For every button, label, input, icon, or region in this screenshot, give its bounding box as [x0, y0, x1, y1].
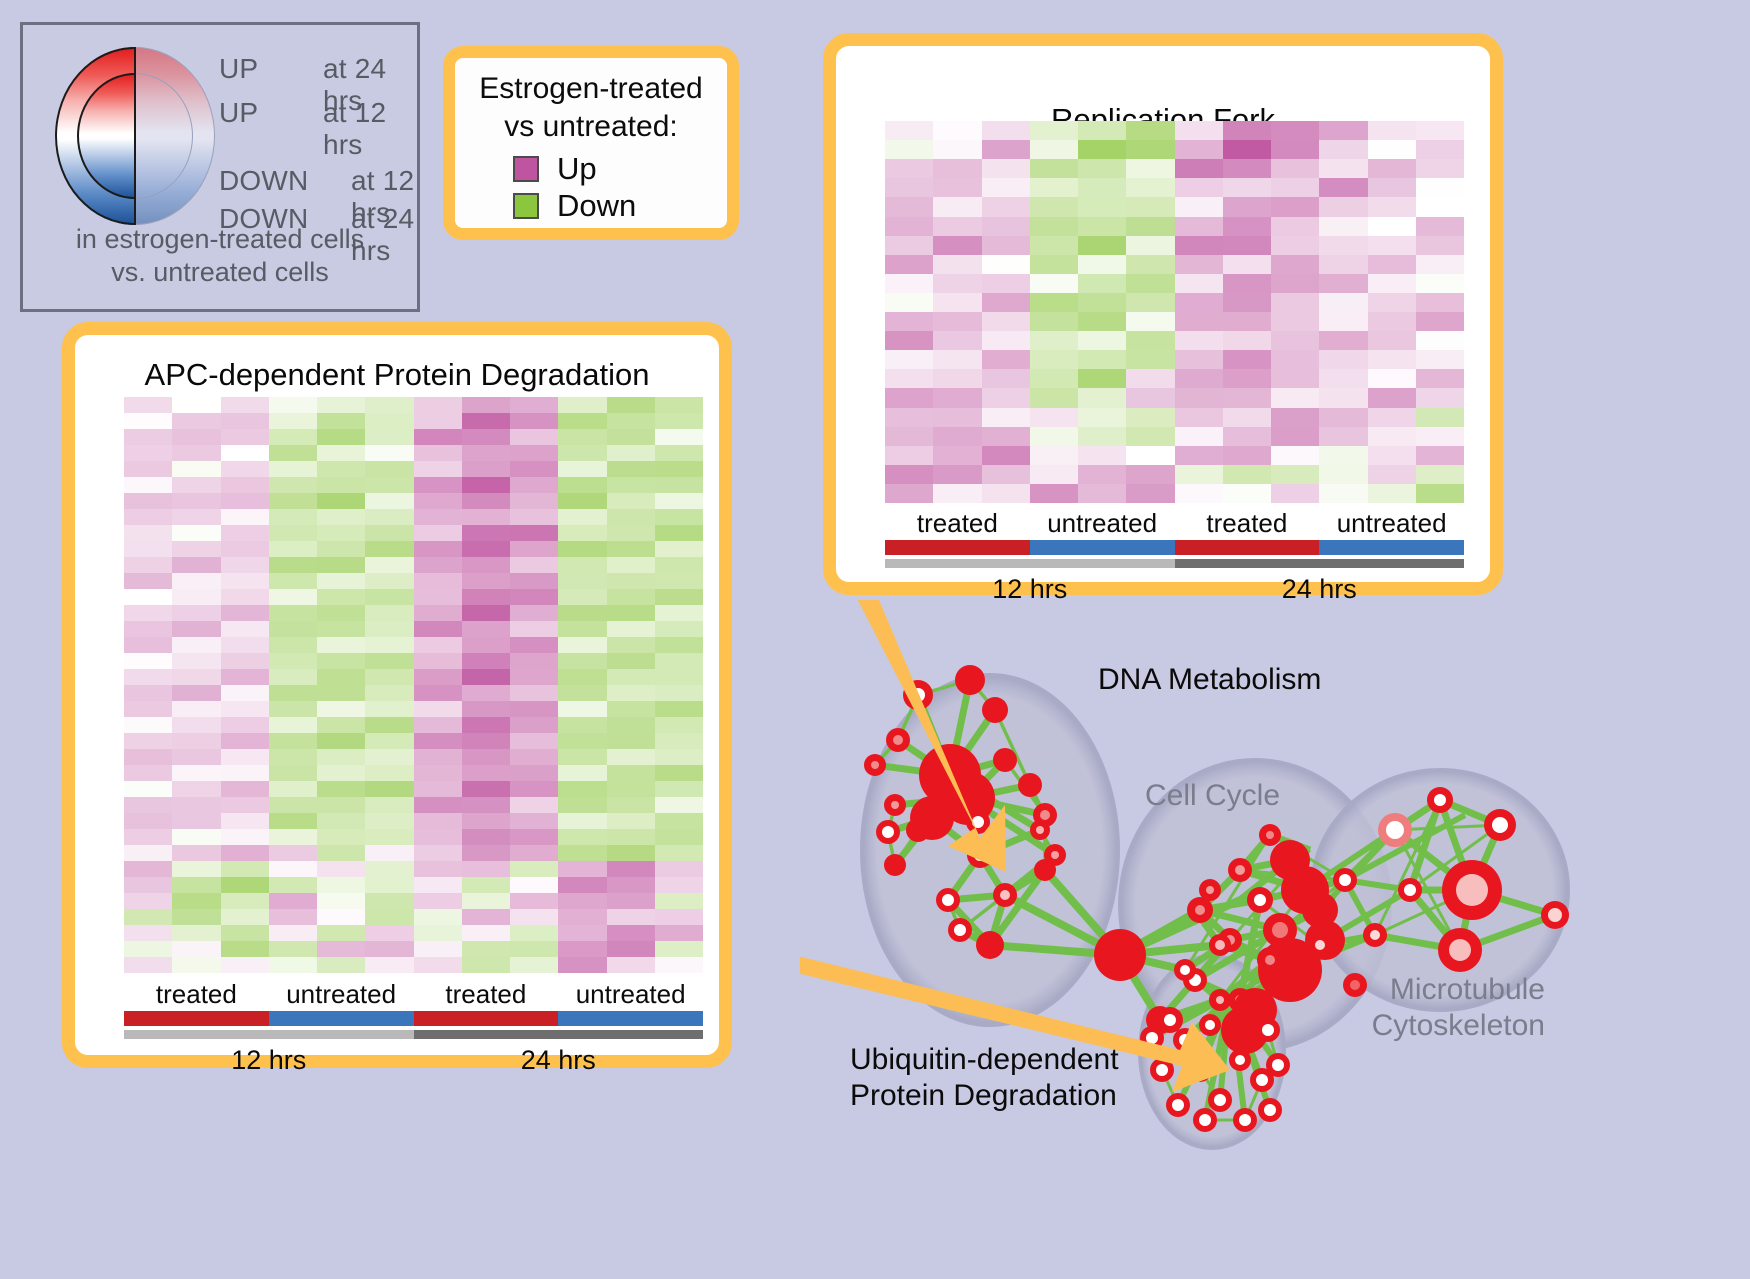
heatmap-cell — [365, 957, 413, 973]
condition-label-3: untreated — [1319, 508, 1464, 539]
heatmap-cell — [317, 397, 365, 413]
heatmap-cell — [607, 669, 655, 685]
heatmap-cell — [317, 925, 365, 941]
heatmap-cell — [124, 605, 172, 621]
heatmap-cell — [510, 701, 558, 717]
heatmap-apc-degradation — [124, 397, 703, 973]
heatmap-cell — [1175, 350, 1223, 369]
heatmap-cell — [607, 397, 655, 413]
heatmap-cell — [317, 477, 365, 493]
heatmap-cell — [365, 781, 413, 797]
heatmap-cell — [1030, 236, 1078, 255]
heatmap-cell — [885, 178, 933, 197]
heatmap-cell — [317, 909, 365, 925]
heatmap-cell — [365, 605, 413, 621]
heatmap-cell — [172, 637, 220, 653]
heatmap-cell — [414, 813, 462, 829]
heatmap-cell — [414, 797, 462, 813]
heatmap-cell — [1175, 274, 1223, 293]
heatmap-cell — [124, 877, 172, 893]
heatmap-cell — [1078, 408, 1126, 427]
heatmap-cell — [1271, 255, 1319, 274]
heatmap-cell — [655, 573, 703, 589]
heatmap-cell — [414, 925, 462, 941]
heatmap-cell — [414, 829, 462, 845]
heatmap-cell — [558, 925, 606, 941]
heatmap-cell — [885, 446, 933, 465]
heatmap-cell — [172, 829, 220, 845]
heatmap-cell — [933, 312, 981, 331]
heatmap-cell — [607, 877, 655, 893]
heatmap-cell — [1416, 197, 1464, 216]
heatmap-cell — [607, 957, 655, 973]
heatmap-cell — [1271, 274, 1319, 293]
heatmap-cell — [1030, 408, 1078, 427]
heatmap-cell — [655, 797, 703, 813]
heatmap-cell — [462, 813, 510, 829]
heatmap-cell — [462, 589, 510, 605]
heatmap-cell — [172, 557, 220, 573]
heatmap-cell — [269, 845, 317, 861]
heatmap-cell — [365, 765, 413, 781]
swatch-up-icon — [513, 156, 539, 182]
condition-label-1: untreated — [269, 979, 414, 1010]
network-label-microtubule-line2: Cytoskeleton — [1360, 1008, 1545, 1044]
heatmap-cell — [607, 685, 655, 701]
heatmap-cell — [414, 861, 462, 877]
heatmap-cell — [462, 909, 510, 925]
heatmap-cell — [1175, 465, 1223, 484]
expression-legend-title-line2: vs untreated: — [455, 108, 727, 146]
heatmap-cell — [1223, 159, 1271, 178]
heatmap-cell — [655, 765, 703, 781]
heatmap-cell — [1126, 236, 1174, 255]
heatmap-cell — [221, 509, 269, 525]
heatmap-cell — [365, 813, 413, 829]
heatmap-cell — [1126, 159, 1174, 178]
heatmap-cell — [1271, 484, 1319, 503]
heatmap-cell — [1368, 350, 1416, 369]
heatmap-cell — [269, 413, 317, 429]
heatmap-cell — [1368, 388, 1416, 407]
heatmap-cell — [462, 477, 510, 493]
heatmap-cell — [462, 877, 510, 893]
heatmap-cell — [124, 717, 172, 733]
heatmap-cell — [885, 140, 933, 159]
heatmap-cell — [1078, 217, 1126, 236]
heatmap-cell — [221, 461, 269, 477]
heatmap-cell — [982, 388, 1030, 407]
heatmap-cell — [1319, 369, 1367, 388]
heatmap-cell — [1319, 121, 1367, 140]
heatmap-cell — [462, 733, 510, 749]
heatmap-cell — [317, 509, 365, 525]
heatmap-cell — [655, 909, 703, 925]
heatmap-cell — [558, 429, 606, 445]
heatmap-cell — [982, 140, 1030, 159]
network-label-microtubule-line1: Microtubule — [1360, 972, 1545, 1008]
heatmap-cell — [1223, 312, 1271, 331]
heatmap-cell — [124, 653, 172, 669]
heatmap-cell — [365, 941, 413, 957]
heatmap-cell — [1319, 408, 1367, 427]
heatmap-cell — [510, 877, 558, 893]
heatmap-cell — [1271, 236, 1319, 255]
heatmap-cell — [607, 893, 655, 909]
heatmap-cell — [1078, 446, 1126, 465]
heatmap-cell — [982, 255, 1030, 274]
heatmap-cell — [982, 465, 1030, 484]
key-note-line2: vs. untreated cells — [23, 256, 417, 289]
heatmap-cell — [221, 541, 269, 557]
heatmap-cell — [172, 541, 220, 557]
heatmap-cell — [933, 484, 981, 503]
heatmap-cell — [655, 525, 703, 541]
heatmap-cell — [607, 621, 655, 637]
heatmap-cell — [885, 408, 933, 427]
heatmap-cell — [317, 893, 365, 909]
heatmap-cell — [365, 701, 413, 717]
heatmap-cell — [607, 813, 655, 829]
heatmap-cell — [172, 605, 220, 621]
heatmap-cell — [1078, 350, 1126, 369]
heatmap-cell — [1126, 140, 1174, 159]
heatmap-cell — [172, 621, 220, 637]
heatmap-cell — [558, 509, 606, 525]
heatmap-cell — [1223, 388, 1271, 407]
heatmap-cell — [1078, 159, 1126, 178]
heatmap-cell — [172, 685, 220, 701]
heatmap-cell — [607, 589, 655, 605]
heatmap-cell — [1416, 312, 1464, 331]
heatmap-cell — [510, 429, 558, 445]
heatmap-cell — [124, 941, 172, 957]
heatmap-cell — [269, 429, 317, 445]
heatmap-cell — [269, 637, 317, 653]
heatmap-cell — [221, 797, 269, 813]
condition-bar-segment-untreated-12 — [1030, 540, 1175, 555]
heatmap-cell — [269, 941, 317, 957]
heatmap-cell — [1175, 484, 1223, 503]
heatmap-cell — [269, 733, 317, 749]
heatmap-cell — [414, 493, 462, 509]
heatmap-cell — [1078, 255, 1126, 274]
heatmap-cell — [655, 589, 703, 605]
heatmap-cell — [269, 525, 317, 541]
heatmap-cell — [414, 685, 462, 701]
heatmap-cell — [365, 797, 413, 813]
heatmap-cell — [558, 749, 606, 765]
heatmap-cell — [885, 427, 933, 446]
heatmap-cell — [269, 557, 317, 573]
heatmap-cell — [1175, 312, 1223, 331]
heatmap-cell — [1030, 293, 1078, 312]
heatmap-cell — [172, 509, 220, 525]
heatmap-cell — [1175, 217, 1223, 236]
heatmap-cell — [982, 446, 1030, 465]
heatmap-cell — [655, 637, 703, 653]
heatmap-cell — [655, 733, 703, 749]
heatmap-cell — [885, 159, 933, 178]
heatmap-cell — [1319, 274, 1367, 293]
heatmap-cell — [317, 957, 365, 973]
heatmap-cell — [558, 717, 606, 733]
heatmap-cell — [655, 429, 703, 445]
heatmap-cell — [124, 461, 172, 477]
heatmap-cell — [172, 957, 220, 973]
heatmap-cell — [462, 541, 510, 557]
network-diagram: DNA Metabolism Cell Cycle Microtubule Cy… — [800, 600, 1750, 1279]
heatmap-cell — [510, 589, 558, 605]
heatmap-cell — [221, 925, 269, 941]
heatmap-cell — [607, 925, 655, 941]
heatmap-cell — [510, 829, 558, 845]
heatmap-cell — [607, 637, 655, 653]
heatmap-cell — [607, 413, 655, 429]
heatmap-cell — [1175, 388, 1223, 407]
heatmap-cell — [1368, 484, 1416, 503]
heatmap-cell — [558, 669, 606, 685]
heatmap-cell — [1078, 484, 1126, 503]
heatmap-cell — [172, 493, 220, 509]
heatmap-cell — [607, 733, 655, 749]
heatmap-cell — [885, 388, 933, 407]
heatmap-cell — [124, 509, 172, 525]
heatmap-cell — [1416, 178, 1464, 197]
heatmap-cell — [317, 861, 365, 877]
heatmap-cell — [172, 893, 220, 909]
heatmap-cell — [655, 941, 703, 957]
heatmap-cell — [172, 669, 220, 685]
heatmap-cell — [655, 461, 703, 477]
heatmap-cell — [1175, 369, 1223, 388]
heatmap-cell — [982, 484, 1030, 503]
heatmap-cell — [124, 685, 172, 701]
heatmap-cell — [414, 765, 462, 781]
heatmap-cell — [414, 877, 462, 893]
condition-labels-replication-fork: treated untreated treated untreated — [885, 508, 1464, 539]
heatmap-cell — [655, 877, 703, 893]
heatmap-cell — [365, 653, 413, 669]
heatmap-cell — [414, 621, 462, 637]
time-bar-segment-12hrs — [885, 559, 1175, 568]
heatmap-cell — [269, 509, 317, 525]
heatmap-cell — [124, 445, 172, 461]
heatmap-cell — [1319, 178, 1367, 197]
heatmap-cell — [655, 701, 703, 717]
heatmap-cell — [317, 461, 365, 477]
heatmap-cell — [1319, 388, 1367, 407]
heatmap-cell — [1368, 274, 1416, 293]
heatmap-cell — [655, 749, 703, 765]
heatmap-cell — [933, 408, 981, 427]
heatmap-cell — [462, 669, 510, 685]
heatmap-cell — [462, 413, 510, 429]
heatmap-cell — [414, 461, 462, 477]
heatmap-cell — [607, 717, 655, 733]
heatmap-cell — [414, 941, 462, 957]
heatmap-cell — [1416, 140, 1464, 159]
heatmap-cell — [221, 429, 269, 445]
heatmap-cell — [1416, 274, 1464, 293]
heatmap-cell — [1030, 465, 1078, 484]
key-time-1: at 12 hrs — [323, 97, 417, 161]
heatmap-cell — [510, 477, 558, 493]
heatmap-cell — [414, 637, 462, 653]
heatmap-cell — [1126, 446, 1174, 465]
heatmap-cell — [269, 541, 317, 557]
heatmap-cell — [317, 621, 365, 637]
heatmap-cell — [172, 477, 220, 493]
heatmap-cell — [317, 525, 365, 541]
heatmap-cell — [124, 749, 172, 765]
heatmap-cell — [462, 829, 510, 845]
panel-replication-fork: Replication Fork treated untreated treat… — [823, 33, 1503, 595]
heatmap-cell — [1416, 465, 1464, 484]
heatmap-cell — [655, 557, 703, 573]
condition-bar-segment-treated-24 — [414, 1011, 559, 1026]
heatmap-cell — [933, 388, 981, 407]
heatmap-cell — [558, 525, 606, 541]
heatmap-cell — [221, 813, 269, 829]
heatmap-cell — [1078, 178, 1126, 197]
heatmap-cell — [655, 829, 703, 845]
heatmap-cell — [1319, 236, 1367, 255]
heatmap-cell — [317, 413, 365, 429]
heatmap-cell — [558, 637, 606, 653]
heatmap-cell — [124, 637, 172, 653]
heatmap-cell — [655, 605, 703, 621]
heatmap-cell — [365, 477, 413, 493]
heatmap-cell — [414, 717, 462, 733]
heatmap-cell — [607, 749, 655, 765]
figure-root: UP at 24 hrs UP at 12 hrs DOWN at 12 hrs… — [0, 0, 1750, 1279]
heatmap-cell — [1126, 217, 1174, 236]
heatmap-cell — [124, 781, 172, 797]
heatmap-cell — [1368, 369, 1416, 388]
heatmap-cell — [317, 573, 365, 589]
heatmap-cell — [124, 893, 172, 909]
condition-bar-segment-untreated-24 — [1319, 540, 1464, 555]
heatmap-cell — [462, 509, 510, 525]
heatmap-cell — [172, 861, 220, 877]
heatmap-cell — [124, 925, 172, 941]
heatmap-cell — [462, 445, 510, 461]
heatmap-cell — [1126, 255, 1174, 274]
heatmap-cell — [414, 397, 462, 413]
heatmap-cell — [607, 573, 655, 589]
heatmap-cell — [124, 525, 172, 541]
heatmap-cell — [124, 621, 172, 637]
heatmap-cell — [1175, 446, 1223, 465]
heatmap-cell — [1078, 121, 1126, 140]
heatmap-cell — [1223, 217, 1271, 236]
heatmap-cell — [1223, 255, 1271, 274]
heatmap-cell — [365, 525, 413, 541]
ring-divider-line — [134, 47, 136, 225]
heatmap-cell — [317, 557, 365, 573]
heatmap-cell — [365, 589, 413, 605]
heatmap-cell — [317, 877, 365, 893]
heatmap-cell — [269, 653, 317, 669]
heatmap-cell — [607, 493, 655, 509]
heatmap-cell — [607, 781, 655, 797]
heatmap-cell — [558, 893, 606, 909]
heatmap-cell — [607, 509, 655, 525]
heatmap-cell — [1368, 159, 1416, 178]
heatmap-cell — [1223, 465, 1271, 484]
heatmap-cell — [510, 781, 558, 797]
heatmap-cell — [317, 781, 365, 797]
heatmap-cell — [414, 605, 462, 621]
heatmap-cell — [221, 477, 269, 493]
heatmap-cell — [655, 893, 703, 909]
heatmap-cell — [124, 573, 172, 589]
heatmap-cell — [414, 669, 462, 685]
heatmap-cell — [607, 557, 655, 573]
heatmap-cell — [221, 941, 269, 957]
heatmap-cell — [462, 461, 510, 477]
heatmap-cell — [1030, 484, 1078, 503]
legend-label-up: Up — [557, 153, 597, 184]
heatmap-cell — [1126, 369, 1174, 388]
heatmap-cell — [1368, 197, 1416, 216]
heatmap-cell — [510, 813, 558, 829]
heatmap-cell — [1078, 236, 1126, 255]
heatmap-cell — [1078, 140, 1126, 159]
heatmap-cell — [269, 621, 317, 637]
heatmap-cell — [558, 765, 606, 781]
heatmap-cell — [1368, 217, 1416, 236]
heatmap-cell — [317, 669, 365, 685]
heatmap-cell — [1368, 446, 1416, 465]
heatmap-cell — [982, 236, 1030, 255]
heatmap-cell — [317, 605, 365, 621]
network-label-ubiquitin: Ubiquitin-dependent Protein Degradation — [850, 1042, 1120, 1114]
heatmap-cell — [172, 461, 220, 477]
heatmap-cell — [365, 893, 413, 909]
heatmap-cell — [1175, 255, 1223, 274]
heatmap-cell — [1271, 293, 1319, 312]
heatmap-cell — [269, 893, 317, 909]
heatmap-cell — [462, 493, 510, 509]
heatmap-cell — [558, 797, 606, 813]
heatmap-cell — [1126, 388, 1174, 407]
heatmap-cell — [462, 797, 510, 813]
heatmap-cell — [1078, 427, 1126, 446]
ring-key-box: UP at 24 hrs UP at 12 hrs DOWN at 12 hrs… — [20, 22, 420, 312]
heatmap-cell — [1319, 197, 1367, 216]
heatmap-cell — [558, 829, 606, 845]
heatmap-cell — [462, 525, 510, 541]
heatmap-cell — [1030, 121, 1078, 140]
heatmap-cell — [1271, 140, 1319, 159]
heatmap-cell — [172, 733, 220, 749]
heatmap-cell — [607, 845, 655, 861]
heatmap-cell — [933, 369, 981, 388]
heatmap-cell — [365, 541, 413, 557]
heatmap-cell — [982, 293, 1030, 312]
heatmap-cell — [1416, 484, 1464, 503]
condition-bar-apc — [124, 1011, 703, 1026]
heatmap-cell — [414, 429, 462, 445]
heatmap-cell — [221, 845, 269, 861]
heatmap-cell — [510, 653, 558, 669]
heatmap-cell — [1271, 178, 1319, 197]
heatmap-cell — [1271, 217, 1319, 236]
heatmap-cell — [365, 493, 413, 509]
heatmap-cell — [221, 717, 269, 733]
